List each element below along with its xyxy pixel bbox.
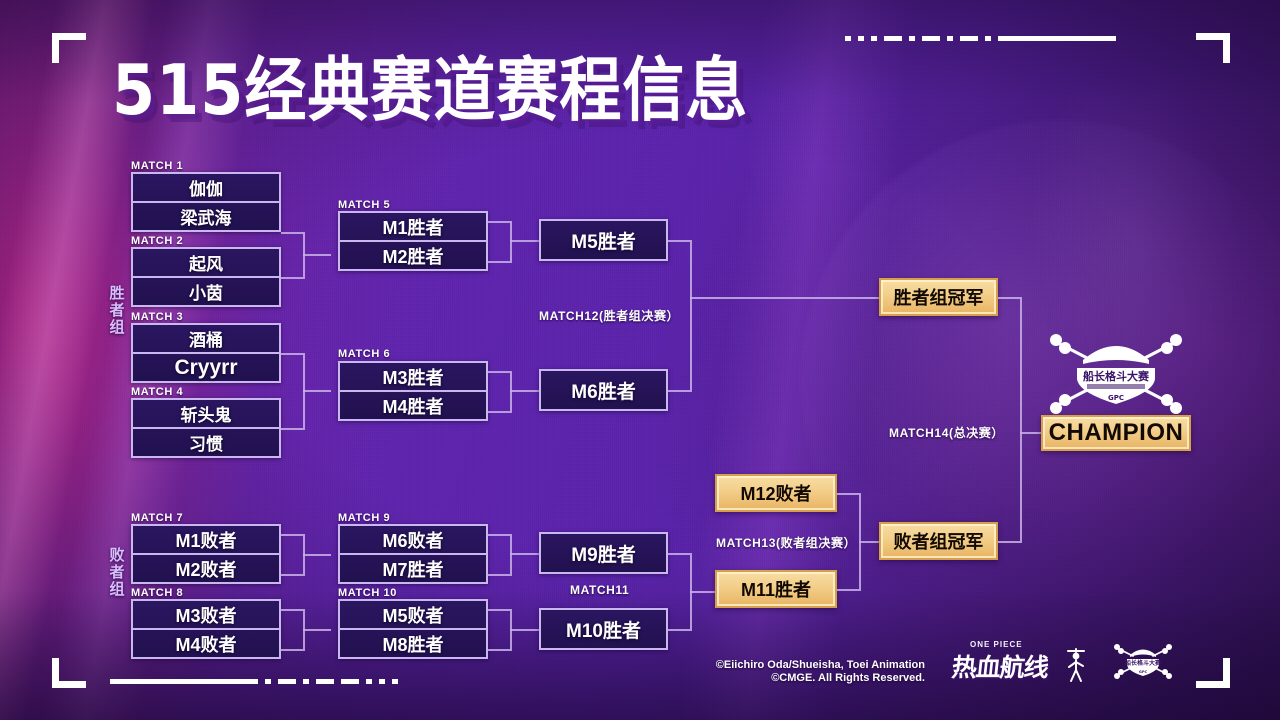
losers-round3-box-m10[interactable]: M10胜者 xyxy=(539,608,668,650)
losers-final-label: MATCH13(败者组决赛） xyxy=(716,534,856,551)
match-label-6: MATCH 6 xyxy=(338,348,390,360)
connector xyxy=(1020,297,1022,543)
match-2-slot-1: 起风 xyxy=(133,249,279,276)
match-label-1: MATCH 1 xyxy=(131,160,183,172)
connector xyxy=(281,232,303,234)
connector xyxy=(510,534,512,576)
match-label-3: MATCH 3 xyxy=(131,311,183,323)
match-8-slot-1: M3败者 xyxy=(133,601,279,628)
connector xyxy=(488,221,510,223)
connector xyxy=(281,609,303,611)
match-3-slot-1: 酒桶 xyxy=(133,325,279,352)
frame-dashes-bottom xyxy=(110,679,398,684)
winners-champion-box[interactable]: 胜者组冠军 xyxy=(879,278,998,316)
losers-group-label: 败者组 xyxy=(108,548,126,598)
connector xyxy=(281,649,303,651)
connector xyxy=(668,390,690,392)
match-label-4: MATCH 4 xyxy=(131,386,183,398)
match-3-slot-2: Cryyrr xyxy=(133,352,279,381)
copyright-line-2: ©CMGE. All Rights Reserved. xyxy=(600,671,925,686)
connector xyxy=(281,277,303,279)
match-4-slot-2: 习惯 xyxy=(133,427,279,456)
losers-round3-label: MATCH11 xyxy=(570,583,629,597)
losers-round3-box-m9[interactable]: M9胜者 xyxy=(539,532,668,574)
connector xyxy=(859,541,879,543)
connector xyxy=(303,254,331,256)
frame-corner-bottom-left xyxy=(52,658,86,688)
connector xyxy=(303,554,331,556)
champion-crest-icon: 船长格斗大赛 GPC xyxy=(1041,330,1191,418)
connector xyxy=(998,541,1020,543)
poster-canvas: 515经典赛道赛程信息 胜者组 败者组 MATCH 1 伽伽 梁武海 MATCH… xyxy=(0,0,1280,720)
match-box-10[interactable]: M5败者 M8胜者 xyxy=(338,599,488,659)
champion-box[interactable]: CHAMPION xyxy=(1041,415,1191,451)
svg-text:船长格斗大赛: 船长格斗大赛 xyxy=(1083,369,1150,383)
match-box-2[interactable]: 起风 小茵 xyxy=(131,247,281,307)
match-box-8[interactable]: M3败者 M4败者 xyxy=(131,599,281,659)
connector xyxy=(510,629,539,631)
connector xyxy=(510,553,539,555)
match-7-slot-2: M2败者 xyxy=(133,553,279,582)
connector xyxy=(690,297,879,299)
connector xyxy=(281,534,303,536)
connector xyxy=(837,589,859,591)
match-1-slot-1: 伽伽 xyxy=(133,174,279,201)
match-4-slot-1: 斩头鬼 xyxy=(133,400,279,427)
connector xyxy=(1020,432,1041,434)
connector xyxy=(690,240,692,392)
losers-champion-box[interactable]: 败者组冠军 xyxy=(879,522,998,560)
match-box-6[interactable]: M3胜者 M4胜者 xyxy=(338,361,488,421)
match-box-3[interactable]: 酒桶 Cryyrr xyxy=(131,323,281,383)
connector xyxy=(668,629,690,631)
match-label-10: MATCH 10 xyxy=(338,587,397,599)
frame-corner-top-right xyxy=(1196,33,1230,63)
connector xyxy=(488,261,510,263)
connector xyxy=(281,353,303,355)
connector xyxy=(510,371,512,413)
page-title: 515经典赛道赛程信息 xyxy=(112,56,748,125)
connector xyxy=(510,390,539,392)
connector xyxy=(668,553,690,555)
match-10-slot-2: M8胜者 xyxy=(340,628,486,657)
losers-semifinal-box-m12[interactable]: M12败者 xyxy=(715,474,837,512)
match-box-5[interactable]: M1胜者 M2胜者 xyxy=(338,211,488,271)
svg-text:船长格斗大赛: 船长格斗大赛 xyxy=(1125,659,1162,667)
connector xyxy=(837,493,859,495)
match-9-slot-2: M7胜者 xyxy=(340,553,486,582)
match-10-slot-1: M5败者 xyxy=(340,601,486,628)
connector xyxy=(510,240,539,242)
connector xyxy=(488,574,510,576)
connector xyxy=(998,297,1020,299)
svg-text:GPC: GPC xyxy=(1139,670,1148,674)
connector xyxy=(488,371,510,373)
game-logo-figure-icon xyxy=(1064,644,1088,684)
footer-crest-icon: 船长格斗大赛 GPC xyxy=(1110,641,1176,681)
winners-final-label: MATCH12(胜者组决赛） xyxy=(539,307,679,324)
connector xyxy=(303,390,331,392)
match-8-slot-2: M4败者 xyxy=(133,628,279,657)
game-logo: ONE PIECE 热血航线 xyxy=(952,640,1092,684)
connector xyxy=(281,428,303,430)
frame-corner-bottom-right xyxy=(1196,658,1230,688)
match-box-9[interactable]: M6败者 M7胜者 xyxy=(338,524,488,584)
match-2-slot-2: 小茵 xyxy=(133,276,279,305)
match-label-9: MATCH 9 xyxy=(338,512,390,524)
winners-semifinal-box-m5[interactable]: M5胜者 xyxy=(539,219,668,261)
match-box-1[interactable]: 伽伽 梁武海 xyxy=(131,172,281,232)
winners-semifinal-box-m6[interactable]: M6胜者 xyxy=(539,369,668,411)
match-6-slot-2: M4胜者 xyxy=(340,390,486,419)
match-1-slot-2: 梁武海 xyxy=(133,201,279,230)
match-label-2: MATCH 2 xyxy=(131,235,183,247)
connector xyxy=(488,649,510,651)
match-6-slot-1: M3胜者 xyxy=(340,363,486,390)
match-label-5: MATCH 5 xyxy=(338,199,390,211)
grand-final-label: MATCH14(总决赛） xyxy=(889,424,1004,441)
frame-dashes-top xyxy=(845,36,1116,41)
connector xyxy=(668,240,690,242)
match-5-slot-1: M1胜者 xyxy=(340,213,486,240)
connector xyxy=(303,629,331,631)
svg-text:GPC: GPC xyxy=(1108,394,1124,402)
connector xyxy=(488,411,510,413)
match-label-8: MATCH 8 xyxy=(131,587,183,599)
winners-group-label: 胜者组 xyxy=(108,286,126,336)
connector xyxy=(488,534,510,536)
match-label-7: MATCH 7 xyxy=(131,512,183,524)
connector xyxy=(690,591,715,593)
connector xyxy=(488,609,510,611)
losers-semifinal-box-m11[interactable]: M11胜者 xyxy=(715,570,837,608)
connector xyxy=(281,574,303,576)
connector xyxy=(510,221,512,263)
game-logo-main-text: 热血航线 xyxy=(950,648,1050,684)
match-5-slot-2: M2胜者 xyxy=(340,240,486,269)
match-box-4[interactable]: 斩头鬼 习惯 xyxy=(131,398,281,458)
frame-corner-top-left xyxy=(52,33,86,63)
match-7-slot-1: M1败者 xyxy=(133,526,279,553)
match-box-7[interactable]: M1败者 M2败者 xyxy=(131,524,281,584)
match-9-slot-1: M6败者 xyxy=(340,526,486,553)
